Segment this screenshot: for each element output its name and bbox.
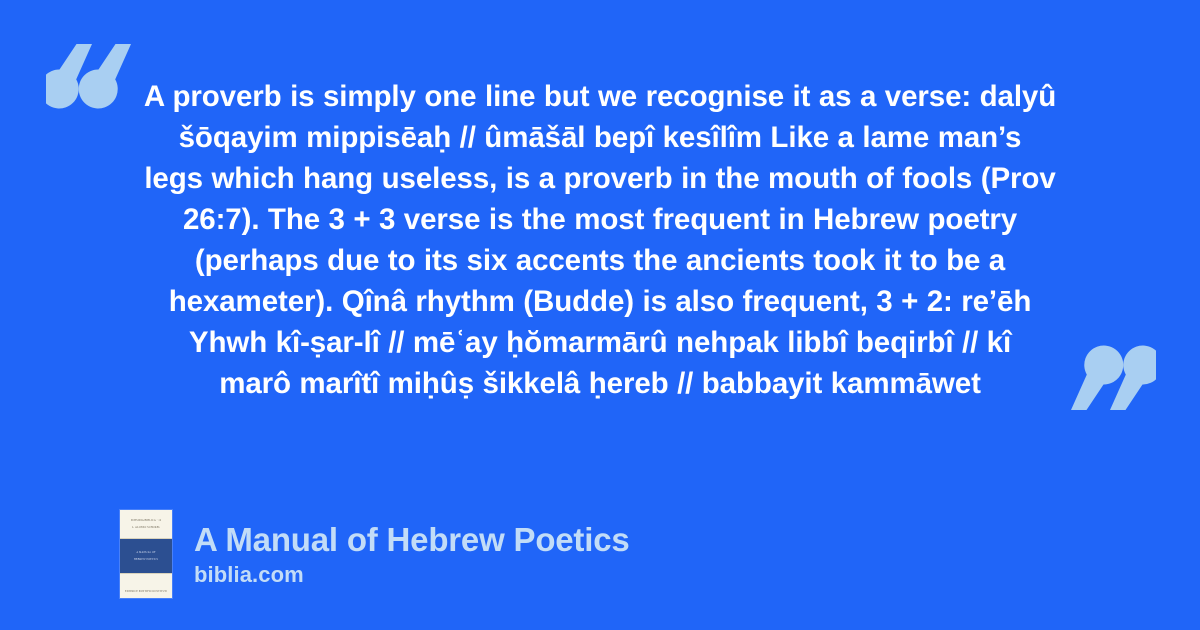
book-cover-thumbnail-icon: SUBSIDIA BIBLICA · 12 L. ALONSO SCHÖKEL …	[120, 510, 172, 598]
book-cover-band-line: A MANUAL OF	[136, 551, 155, 554]
site-name: biblia.com	[194, 562, 630, 588]
book-title: A Manual of Hebrew Poetics	[194, 521, 630, 559]
quote-line: marô marîtî miḥûṣ šikkelâ ḥereb // babba…	[110, 363, 1090, 404]
footer-text-group: A Manual of Hebrew Poetics biblia.com	[194, 521, 630, 588]
book-cover-top-line: L. ALONSO SCHÖKEL	[132, 526, 160, 529]
book-cover-bottom: EDITRICE PONTIFICIO ISTITUTO BIBLICO · R…	[120, 573, 172, 598]
footer: SUBSIDIA BIBLICA · 12 L. ALONSO SCHÖKEL …	[120, 510, 630, 598]
book-cover-top-line: SUBSIDIA BIBLICA · 12	[131, 519, 162, 522]
quote-line: (perhaps due to its six accents the anci…	[110, 240, 1090, 281]
quote-card: A proverb is simply one line but we reco…	[0, 0, 1200, 630]
quote-line: 26:7). The 3 + 3 verse is the most frequ…	[110, 199, 1090, 240]
quote-body: A proverb is simply one line but we reco…	[110, 76, 1090, 404]
book-cover-band-line: HEBREW POETICS	[134, 558, 158, 561]
quote-line: A proverb is simply one line but we reco…	[110, 76, 1090, 117]
book-cover-top: SUBSIDIA BIBLICA · 12 L. ALONSO SCHÖKEL	[120, 510, 172, 539]
quote-line: šōqayim mippisēaḥ // ûmāšāl bepî kesîlîm…	[110, 117, 1090, 158]
quote-line: legs which hang useless, is a proverb in…	[110, 158, 1090, 199]
quote-line: hexameter). Qînâ rhythm (Budde) is also …	[110, 281, 1090, 322]
book-cover-band: A MANUAL OF HEBREW POETICS	[120, 539, 172, 573]
book-cover-bottom-line: EDITRICE PONTIFICIO ISTITUTO BIBLICO · R…	[125, 590, 167, 593]
quote-line: Yhwh kî-ṣar-lî // mēʿay ḥŏmarmārû nehpak…	[110, 322, 1090, 363]
close-quote-mark-icon	[1070, 340, 1156, 410]
